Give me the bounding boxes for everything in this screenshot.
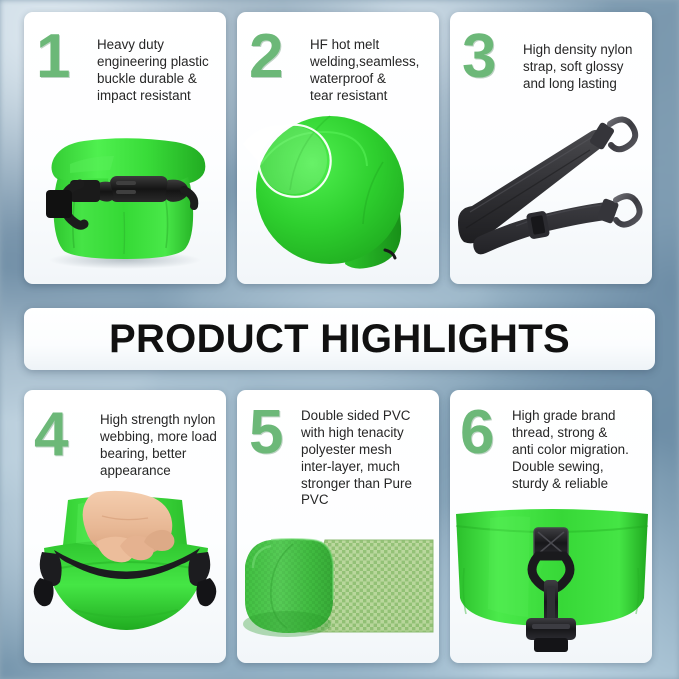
highlight-number-6: 6 xyxy=(460,402,493,464)
highlight-card-5: 5 Double sided PVC with high tenacity po… xyxy=(237,390,439,663)
banner-title: PRODUCT HIGHLIGHTS xyxy=(109,317,570,362)
highlight-card-6: 6 High grade brand thread, strong & anti… xyxy=(450,390,652,663)
highlight-text-6: High grade brand thread, strong & anti c… xyxy=(512,408,648,492)
highlight-text-2: HF hot melt welding,seamless, waterproof… xyxy=(310,37,436,105)
highlight-card-2: 2 HF hot melt welding,seamless, waterpro… xyxy=(237,12,439,284)
infographic-stage: 1 Heavy duty engineering plastic buckle … xyxy=(0,0,679,679)
pvc-mesh-fabric-swatch-photo xyxy=(237,508,439,663)
welded-seamless-base-photo xyxy=(237,104,439,284)
highlight-number-4: 4 xyxy=(34,404,67,466)
highlight-number-1: 1 xyxy=(36,26,69,88)
highlight-text-5: Double sided PVC with high tenacity poly… xyxy=(301,408,435,509)
product-highlights-banner: PRODUCT HIGHLIGHTS xyxy=(24,308,655,370)
highlight-card-3: 3 High density nylon strap, soft glossy … xyxy=(450,12,652,284)
dry-bag-with-buckle-photo xyxy=(24,104,226,284)
highlight-text-4: High strength nylon webbing, more load b… xyxy=(100,412,224,480)
highlight-card-1: 1 Heavy duty engineering plastic buckle … xyxy=(24,12,226,284)
highlight-text-1: Heavy duty engineering plastic buckle du… xyxy=(97,37,223,105)
highlight-number-5: 5 xyxy=(249,402,282,464)
highlight-card-4: 4 High strength nylon webbing, more load… xyxy=(24,390,226,663)
highlight-number-3: 3 xyxy=(462,26,495,88)
highlight-text-3: High density nylon strap, soft glossy an… xyxy=(523,42,649,93)
stitched-d-ring-clip-photo xyxy=(450,508,652,663)
highlight-number-2: 2 xyxy=(249,26,282,88)
nylon-shoulder-strap-photo xyxy=(450,104,652,284)
hand-lifting-webbing-handle-photo xyxy=(24,490,226,663)
